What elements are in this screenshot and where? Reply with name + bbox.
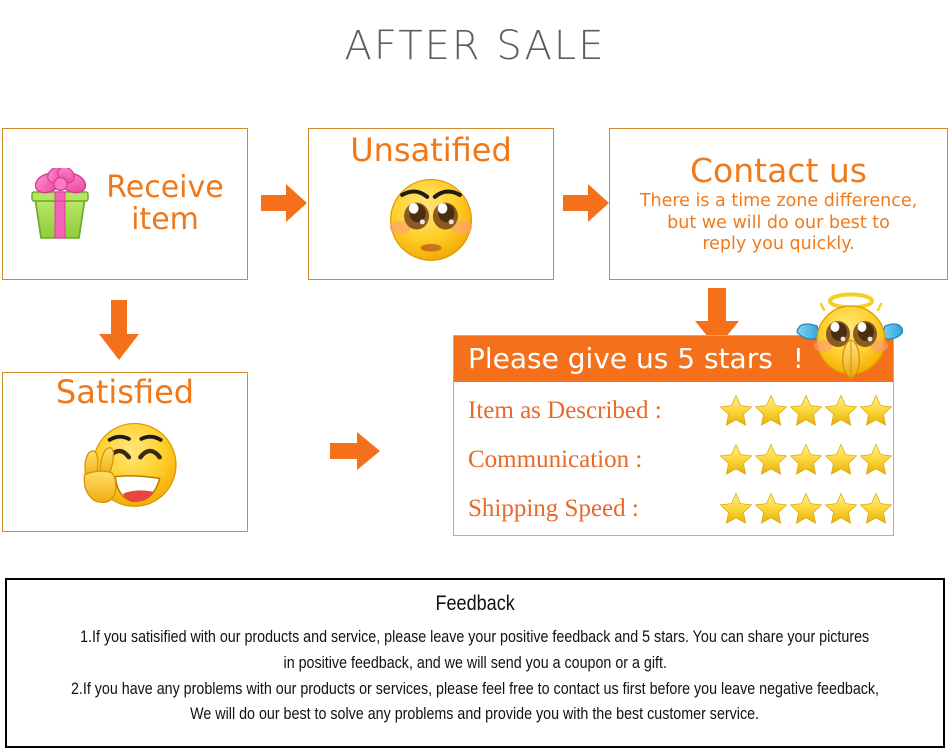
arrow-unsatisfied-to-contact-icon xyxy=(563,182,609,224)
star-rating-item-as-described xyxy=(719,394,893,427)
flow-box-unsatisfied: Unsatified xyxy=(308,128,554,280)
rating-row: Communication : xyxy=(468,435,893,484)
rating-label-shipping-speed: Shipping Speed : xyxy=(468,495,719,523)
rating-rows: Item as Described : Communication : xyxy=(454,382,893,533)
contact-us-body-line3: reply you quickly. xyxy=(640,234,917,255)
feedback-line-3: 2.If you have any problems with our prod… xyxy=(71,676,879,702)
praying-angel-face-icon xyxy=(795,292,903,384)
feedback-line-4: We will do our best to solve any problem… xyxy=(191,701,760,727)
satisfied-content: Satisfied xyxy=(3,373,247,533)
unsatisfied-label: Unsatified xyxy=(350,133,512,168)
receive-item-content: Receive item xyxy=(3,129,247,279)
feedback-title: Feedback xyxy=(435,592,514,616)
rating-label-communication: Communication : xyxy=(468,446,719,474)
arrow-satisfied-to-rating-icon xyxy=(330,430,380,472)
receive-item-line1: Receive xyxy=(106,172,223,204)
rating-row: Item as Described : xyxy=(468,386,893,435)
contact-us-body: There is a time zone difference, but we … xyxy=(640,191,917,255)
after-sale-banner: AFTER SALE xyxy=(0,0,950,754)
flow-box-satisfied: Satisfied xyxy=(2,372,248,532)
contact-us-title: Contact us xyxy=(690,153,867,190)
receive-item-row: Receive item xyxy=(3,168,247,240)
rating-label-item-as-described: Item as Described : xyxy=(468,397,719,425)
unsatisfied-content: Unsatified xyxy=(309,129,553,283)
contact-us-content: Contact us There is a time zone differen… xyxy=(610,129,947,279)
happy-face-peace-sign-icon xyxy=(67,411,183,520)
contact-us-body-line2: but we will do our best to xyxy=(640,213,917,234)
feedback-line-1: 1.If you satisified with our products an… xyxy=(80,624,869,650)
star-rating-shipping-speed xyxy=(719,492,893,525)
arrow-receive-to-unsatisfied-icon xyxy=(261,182,307,224)
receive-item-line2: item xyxy=(106,204,223,236)
satisfied-label: Satisfied xyxy=(56,375,194,411)
gift-icon xyxy=(26,168,94,240)
arrow-receive-to-satisfied-icon xyxy=(98,300,140,362)
star-rating-communication xyxy=(719,443,893,476)
rating-header-text: Please give us 5 stars xyxy=(468,345,773,373)
flow-box-contact-us: Contact us There is a time zone differen… xyxy=(609,128,948,280)
feedback-box: Feedback 1.If you satisified with our pr… xyxy=(5,578,945,748)
contact-us-body-line1: There is a time zone difference, xyxy=(640,191,917,212)
flow-box-receive-item: Receive item xyxy=(2,128,248,280)
receive-item-label: Receive item xyxy=(106,172,223,237)
worried-face-icon xyxy=(381,168,481,273)
rating-row: Shipping Speed : xyxy=(468,484,893,533)
page-title: AFTER SALE xyxy=(0,26,950,66)
feedback-line-2: in positive feedback, and we will send y… xyxy=(283,650,666,676)
